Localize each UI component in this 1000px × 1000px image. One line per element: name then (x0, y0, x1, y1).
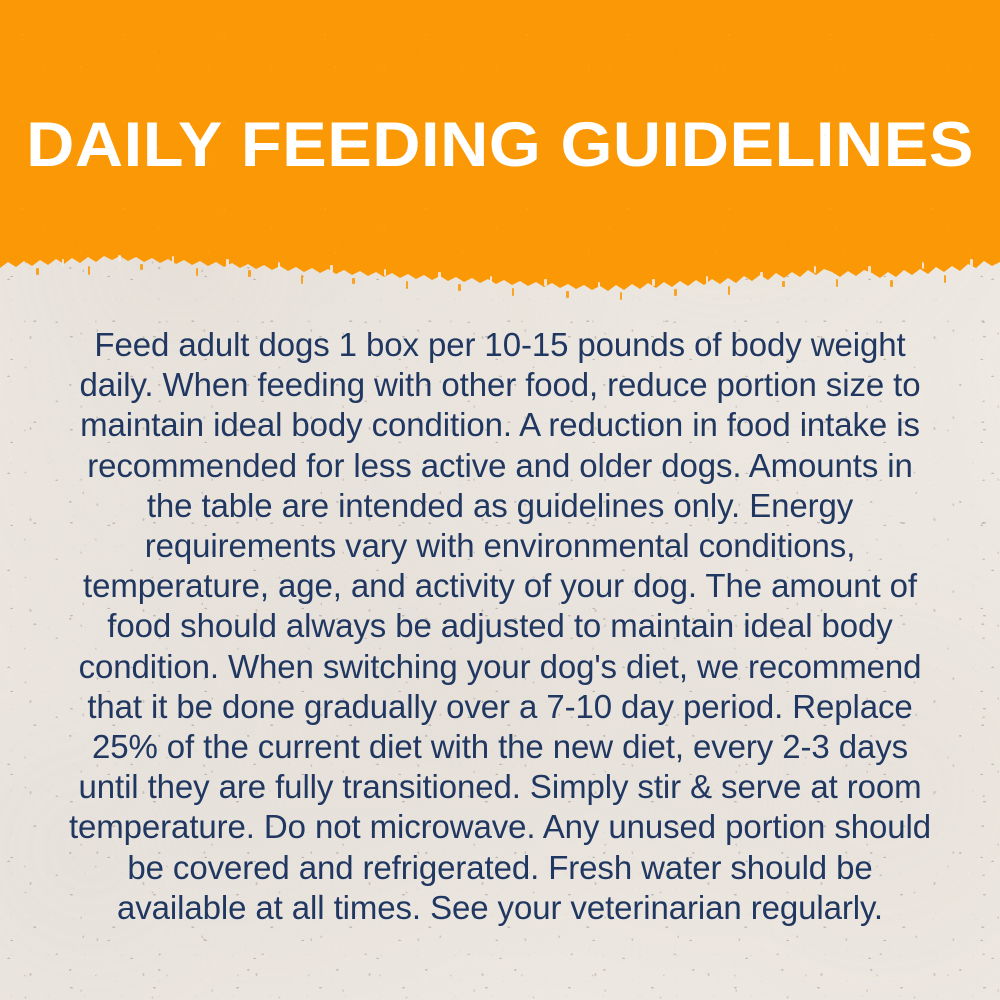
feeding-instructions-text: Feed adult dogs 1 box per 10-15 pounds o… (65, 326, 936, 929)
feeding-guidelines-panel: DAILY FEEDING GUIDELINES Feed adult dogs… (0, 0, 1000, 1000)
feeding-instructions-paragraph: Feed adult dogs 1 box per 10-15 pounds o… (65, 326, 936, 929)
page-title: DAILY FEEDING GUIDELINES (0, 112, 1000, 178)
